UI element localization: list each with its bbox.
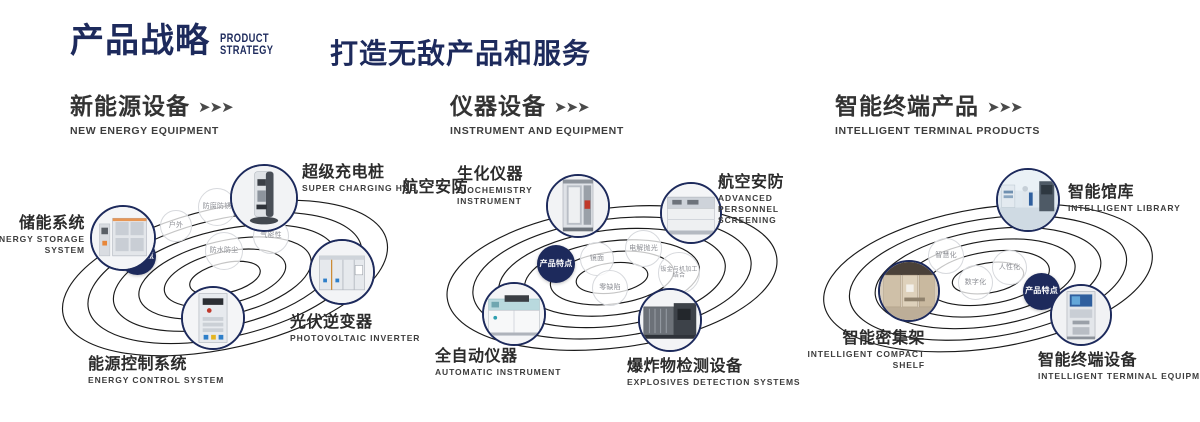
page-subtitle: 打造无敌产品和服务: [330, 32, 591, 72]
label-cn: 智能馆库: [1068, 182, 1181, 201]
label-en: ENERGY STORAGE SYSTEM: [0, 234, 85, 256]
diagram-instrument: 镜面 电解抛光 钣金与机加工结合 零缺陷 产品特点 生化仪器 BIOCHEMIS…: [420, 160, 800, 390]
label-intelligent-library: 智能馆库 INTELLIGENT LIBRARY: [1068, 182, 1181, 214]
label-pv-inverter: 光伏逆变器 PHOTOVOLTAIC INVERTER: [290, 312, 420, 344]
node-biochemistry-instrument[interactable]: [546, 174, 610, 238]
node-compact-shelf[interactable]: [878, 260, 940, 322]
feature-bubble-text: 电解抛光: [629, 245, 658, 252]
feature-bubble: 人性化: [992, 250, 1027, 285]
node-automatic-instrument[interactable]: [482, 282, 546, 346]
label-cn: 能源控制系统: [88, 354, 224, 373]
section-heading-intelligent: 智能终端产品➤➤➤ INTELLIGENT TERMINAL PRODUCTS: [835, 94, 1040, 137]
label-charging-hub: 超级充电桩 SUPER CHARGING HUB: [302, 162, 417, 194]
label-en: SUPER CHARGING HUB: [302, 183, 417, 194]
charging-pile-icon: [232, 166, 296, 230]
page-title-en: PRODUCT STRATEGY: [220, 32, 273, 56]
diagram-intelligent: 智慧化 数字化 人性化 产品特点 智能馆库 INTELLIGENT LIBRAR…: [810, 160, 1190, 390]
page-title: 产品战略: [70, 24, 210, 58]
node-personnel-screening[interactable]: [660, 182, 722, 244]
section-heading-en: INTELLIGENT TERMINAL PRODUCTS: [835, 125, 1040, 137]
page-title-en-line2: STRATEGY: [220, 44, 273, 56]
section-heading-instrument: 仪器设备➤➤➤ INSTRUMENT AND EQUIPMENT: [450, 94, 624, 137]
label-cn: 超级充电桩: [302, 162, 417, 181]
explosives-detector-icon: [640, 290, 700, 350]
automatic-analyzer-icon: [484, 284, 544, 344]
control-cabinet-icon: [183, 288, 243, 348]
node-energy-control[interactable]: [181, 286, 245, 350]
core-bubble: 产品特点: [537, 245, 575, 283]
feature-bubble-text: 防腐防锈: [203, 203, 232, 210]
label-explosives-detection: 爆炸物检测设备 EXPLOSIVES DETECTION SYSTEMS: [627, 356, 801, 388]
poster-header: 产品战略 PRODUCT STRATEGY: [70, 24, 288, 58]
section-heading-cn: 新能源设备➤➤➤: [70, 94, 233, 120]
label-cn: 储能系统: [0, 213, 85, 232]
label-compact-shelf: 智能密集架 INTELLIGENT COMPACT SHELF: [790, 328, 925, 371]
section-heading-en: NEW ENERGY EQUIPMENT: [70, 125, 233, 137]
feature-bubble: 电解抛光: [625, 230, 662, 267]
library-interior-icon: [998, 170, 1058, 230]
feature-bubble: 零缺陷: [592, 270, 628, 306]
label-cn: 生化仪器: [457, 164, 547, 183]
label-cn: 光伏逆变器: [290, 312, 420, 331]
label-automatic-instrument: 全自动仪器 AUTOMATIC INSTRUMENT: [435, 346, 561, 378]
node-pv-inverter[interactable]: [309, 239, 375, 305]
label-cn: 全自动仪器: [435, 346, 561, 365]
label-en: PHOTOVOLTAIC INVERTER: [290, 333, 420, 344]
diagram-new-energy: 户外 防腐防锈 气密性 防水防尘 产品特点 储能系统 ENERGY STORAG…: [40, 160, 420, 390]
node-charging-hub[interactable]: [230, 164, 298, 232]
node-intelligent-library[interactable]: [996, 168, 1060, 232]
label-biochemistry-instrument: 生化仪器 BIOCHEMISTRY INSTRUMENT: [457, 164, 547, 207]
energy-storage-cabinet-icon: [92, 207, 154, 269]
label-en: INTELLIGENT LIBRARY: [1068, 203, 1181, 214]
label-cn: 爆炸物检测设备: [627, 356, 801, 375]
label-terminal-equipment: 智能终端设备 INTELLIGENT TERMINAL EQUIPMENT: [1038, 350, 1200, 382]
section-heading-text: 智能终端产品: [835, 94, 979, 120]
feature-bubble-text: 钣金与机加工结合: [659, 267, 699, 280]
compact-shelf-icon: [880, 262, 938, 320]
label-en: ADVANCED PERSONNEL SCREENING: [718, 193, 810, 226]
section-heading-cn: 智能终端产品➤➤➤: [835, 94, 1040, 120]
feature-bubble: 数字化: [958, 265, 993, 300]
section-heading-text: 新能源设备: [70, 94, 190, 120]
label-energy-storage: 储能系统 ENERGY STORAGE SYSTEM: [0, 213, 85, 256]
label-en: INTELLIGENT TERMINAL EQUIPMENT: [1038, 371, 1200, 382]
poster-canvas: 产品战略 PRODUCT STRATEGY 打造无敌产品和服务 新能源设备➤➤➤…: [0, 0, 1200, 422]
label-cn: 智能终端设备: [1038, 350, 1200, 369]
section-heading-cn: 仪器设备➤➤➤: [450, 94, 624, 120]
feature-bubble: 防水防尘: [205, 232, 243, 270]
label-en: EXPLOSIVES DETECTION SYSTEMS: [627, 377, 801, 388]
label-personnel-screening: 航空安防 ADVANCED PERSONNEL SCREENING: [718, 172, 810, 226]
chevron-right-icon: ➤➤➤: [987, 94, 1022, 120]
label-en: INTELLIGENT COMPACT SHELF: [790, 349, 925, 371]
section-heading-en: INSTRUMENT AND EQUIPMENT: [450, 125, 624, 137]
node-terminal-equipment[interactable]: [1050, 284, 1112, 346]
label-en: ENERGY CONTROL SYSTEM: [88, 375, 224, 386]
label-cn: 航空安防: [402, 177, 468, 196]
pv-inverter-cabinet-icon: [311, 241, 373, 303]
screening-machine-icon: [662, 184, 720, 242]
chevron-right-icon: ➤➤➤: [554, 94, 589, 120]
feature-bubble: 户外: [160, 210, 192, 242]
label-en: BIOCHEMISTRY INSTRUMENT: [457, 185, 547, 207]
node-explosives-detection[interactable]: [638, 288, 702, 352]
biochemistry-scanner-icon: [548, 176, 608, 236]
label-aviation-security-secondary: 航空安防: [402, 177, 468, 196]
self-service-kiosk-icon: [1052, 286, 1110, 344]
label-en: AUTOMATIC INSTRUMENT: [435, 367, 561, 378]
section-heading-text: 仪器设备: [450, 94, 546, 120]
label-energy-control: 能源控制系统 ENERGY CONTROL SYSTEM: [88, 354, 224, 386]
node-energy-storage[interactable]: [90, 205, 156, 271]
label-cn: 智能密集架: [790, 328, 925, 347]
chevron-right-icon: ➤➤➤: [198, 94, 233, 120]
label-cn: 航空安防: [718, 172, 810, 191]
section-heading-new-energy: 新能源设备➤➤➤ NEW ENERGY EQUIPMENT: [70, 94, 233, 137]
core-bubble-text: 产品特点: [540, 260, 573, 269]
feature-bubble-text: 防水防尘: [210, 247, 239, 254]
